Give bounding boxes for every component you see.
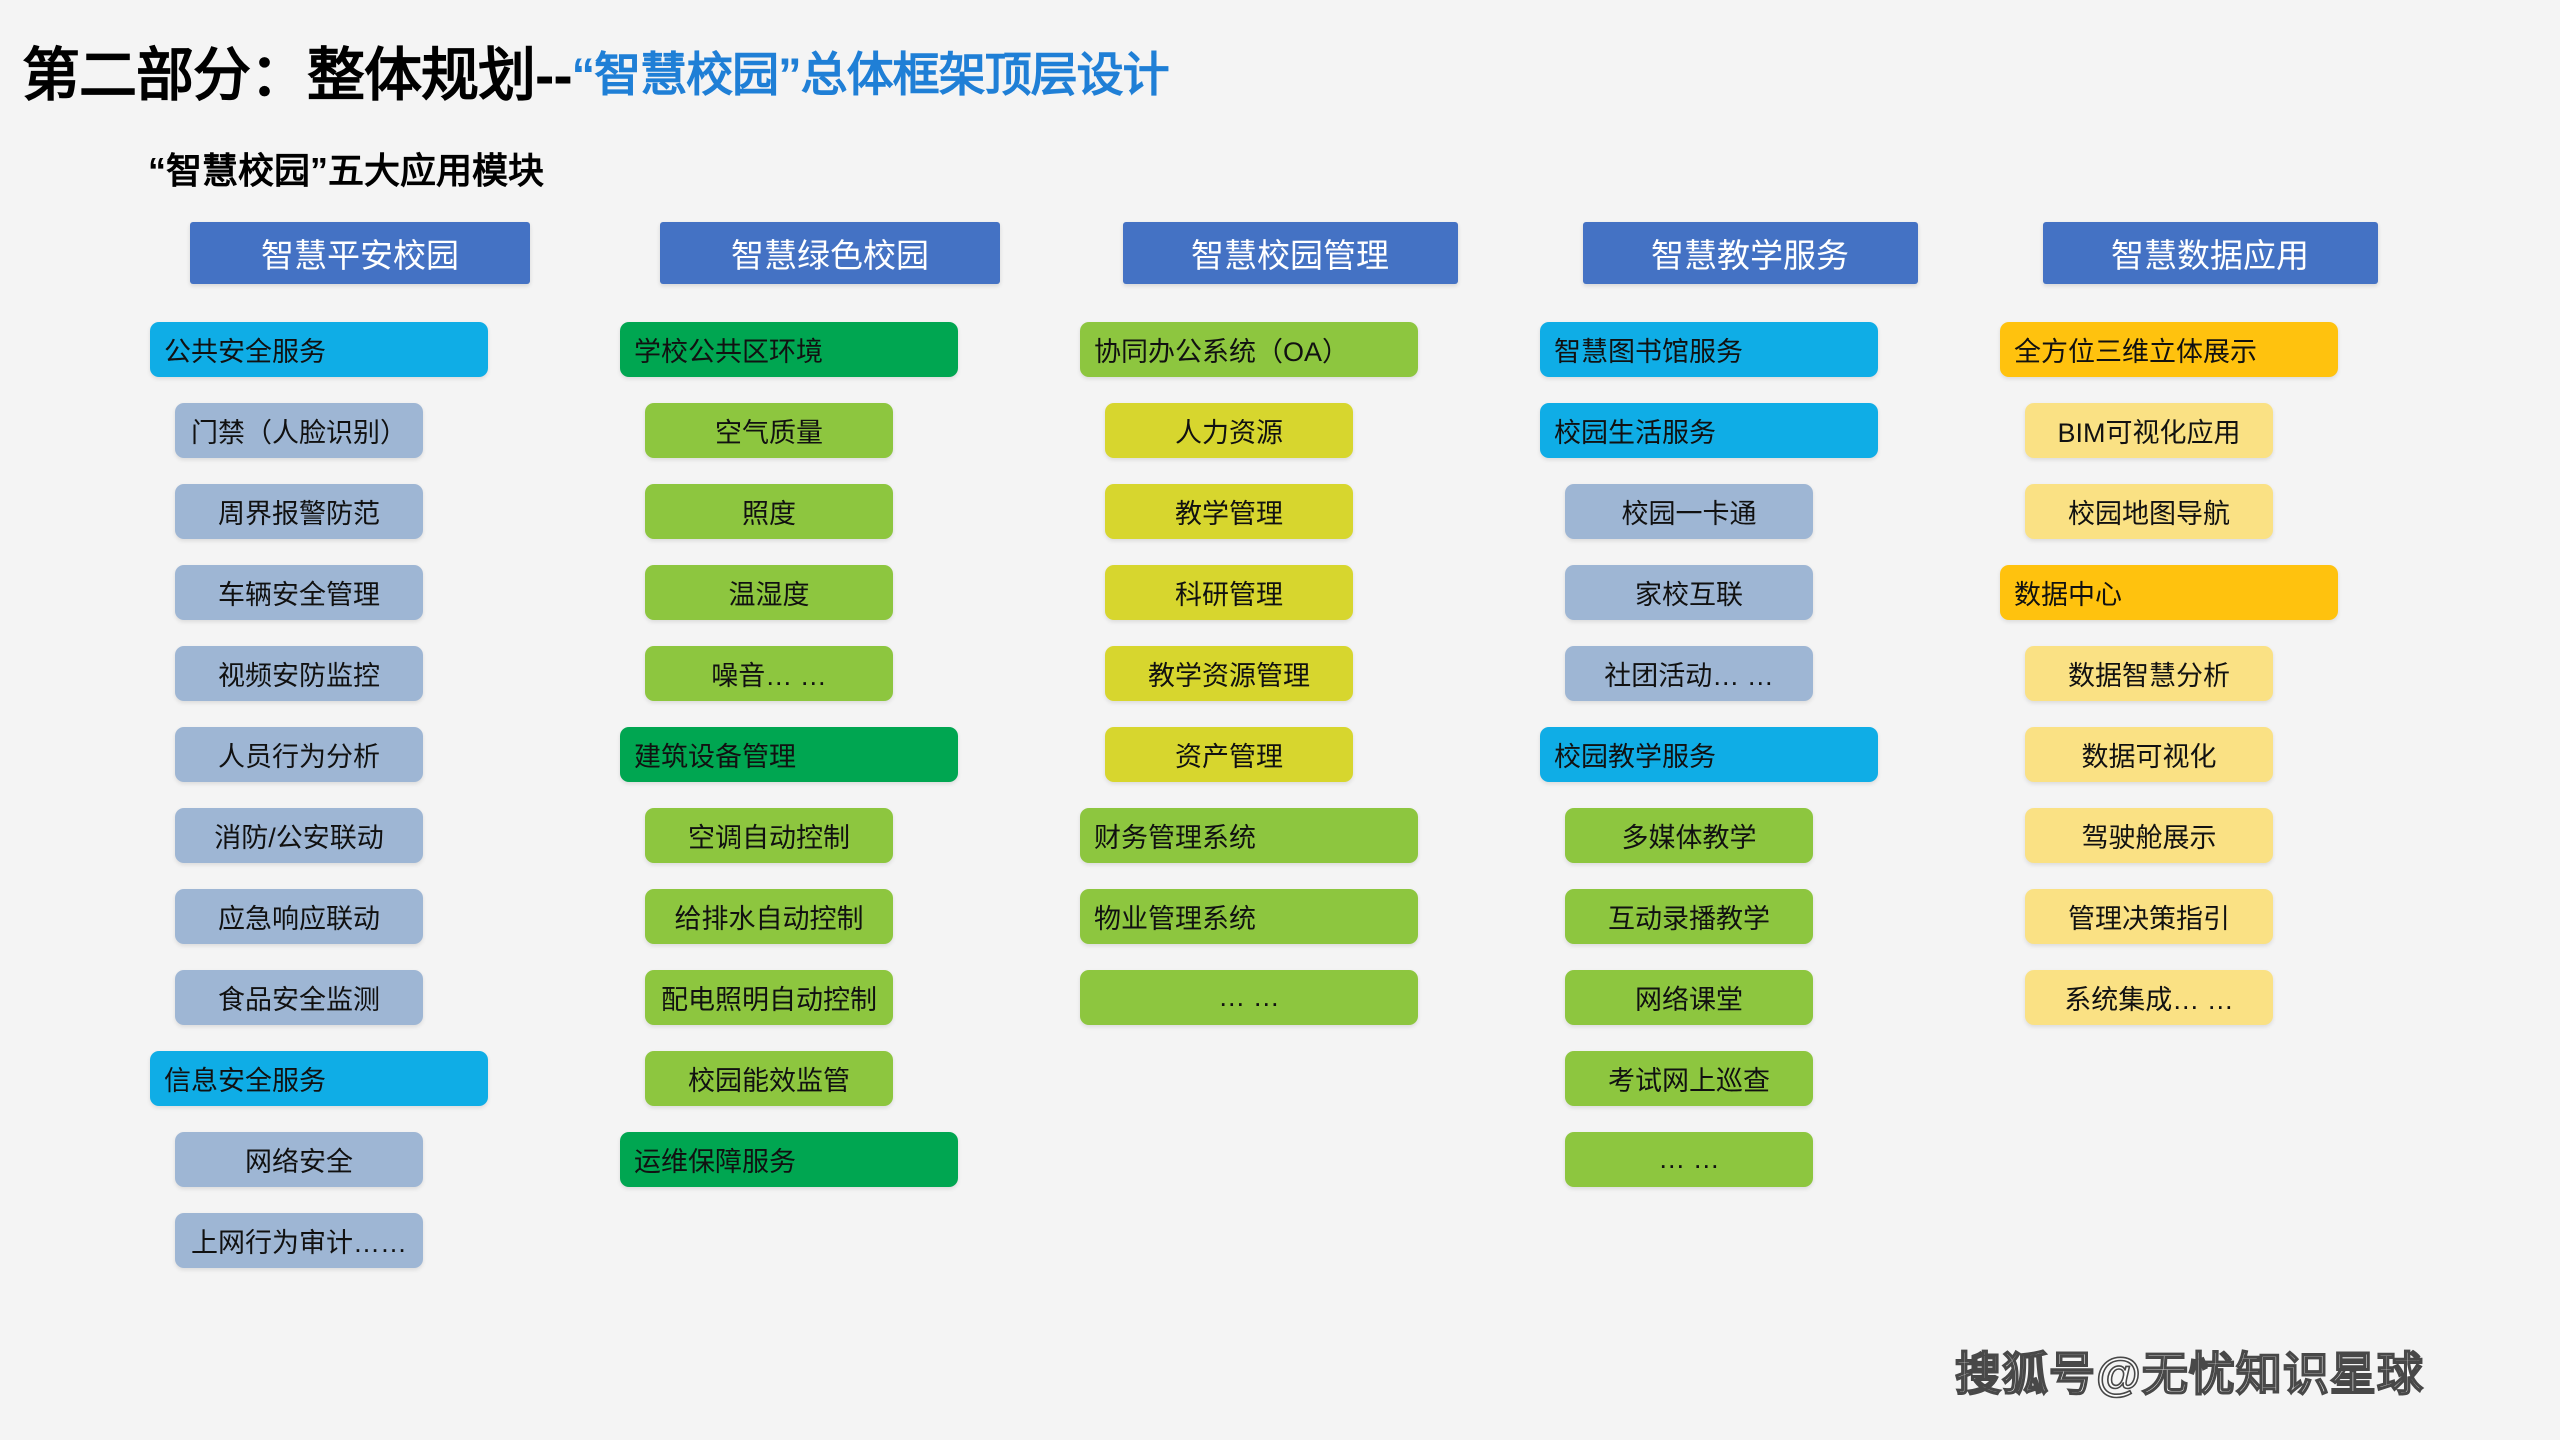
module-column-header[interactable]: 智慧绿色校园 bbox=[660, 222, 1000, 284]
module-item[interactable]: 校园地图导航 bbox=[2025, 484, 2273, 539]
module-column-header[interactable]: 智慧数据应用 bbox=[2043, 222, 2378, 284]
module-item[interactable]: … … bbox=[1565, 1132, 1813, 1187]
module-item[interactable]: 资产管理 bbox=[1105, 727, 1353, 782]
module-item[interactable]: … … bbox=[1080, 970, 1418, 1025]
module-item[interactable]: 网络安全 bbox=[175, 1132, 423, 1187]
module-item[interactable]: 校园一卡通 bbox=[1565, 484, 1813, 539]
page-title: 第二部分：整体规划--“智慧校园”总体框架顶层设计 bbox=[22, 28, 1169, 112]
module-item-list: 公共安全服务门禁（人脸识别）周界报警防范车辆安全管理视频安防监控人员行为分析消防… bbox=[150, 322, 570, 1268]
page-subtitle: “智慧校园”五大应用模块 bbox=[148, 142, 544, 194]
module-item[interactable]: 驾驶舱展示 bbox=[2025, 808, 2273, 863]
module-item-list: 协同办公系统（OA）人力资源教学管理科研管理教学资源管理资产管理财务管理系统物业… bbox=[1080, 322, 1500, 1025]
modules-board: 智慧平安校园公共安全服务门禁（人脸识别）周界报警防范车辆安全管理视频安防监控人员… bbox=[0, 222, 2560, 1322]
module-item[interactable]: 家校互联 bbox=[1565, 565, 1813, 620]
module-item-list: 全方位三维立体展示BIM可视化应用校园地图导航数据中心数据智慧分析数据可视化驾驶… bbox=[2000, 322, 2420, 1025]
module-item[interactable]: 网络课堂 bbox=[1565, 970, 1813, 1025]
module-column: 智慧校园管理协同办公系统（OA）人力资源教学管理科研管理教学资源管理资产管理财务… bbox=[1080, 222, 1500, 1051]
module-item[interactable]: 财务管理系统 bbox=[1080, 808, 1418, 863]
page-title-black: 第二部分：整体规划-- bbox=[22, 43, 572, 108]
page-title-accent: “智慧校园”总体框架顶层设计 bbox=[572, 48, 1169, 101]
module-item[interactable]: 数据可视化 bbox=[2025, 727, 2273, 782]
module-item-list: 智慧图书馆服务校园生活服务校园一卡通家校互联社团活动… …校园教学服务多媒体教学… bbox=[1540, 322, 1960, 1187]
module-item[interactable]: 车辆安全管理 bbox=[175, 565, 423, 620]
module-item[interactable]: BIM可视化应用 bbox=[2025, 403, 2273, 458]
module-item[interactable]: 校园教学服务 bbox=[1540, 727, 1878, 782]
module-item[interactable]: 数据中心 bbox=[2000, 565, 2338, 620]
module-item[interactable]: 全方位三维立体展示 bbox=[2000, 322, 2338, 377]
module-column: 智慧教学服务智慧图书馆服务校园生活服务校园一卡通家校互联社团活动… …校园教学服… bbox=[1540, 222, 1960, 1213]
module-item[interactable]: 教学资源管理 bbox=[1105, 646, 1353, 701]
module-column-header[interactable]: 智慧平安校园 bbox=[190, 222, 530, 284]
module-item[interactable]: 上网行为审计…… bbox=[175, 1213, 423, 1268]
module-column: 智慧数据应用全方位三维立体展示BIM可视化应用校园地图导航数据中心数据智慧分析数… bbox=[2000, 222, 2420, 1051]
module-item[interactable]: 视频安防监控 bbox=[175, 646, 423, 701]
module-item[interactable]: 人力资源 bbox=[1105, 403, 1353, 458]
module-item[interactable]: 考试网上巡查 bbox=[1565, 1051, 1813, 1106]
module-item[interactable]: 信息安全服务 bbox=[150, 1051, 488, 1106]
module-item[interactable]: 学校公共区环境 bbox=[620, 322, 958, 377]
module-item[interactable]: 周界报警防范 bbox=[175, 484, 423, 539]
module-item[interactable]: 协同办公系统（OA） bbox=[1080, 322, 1418, 377]
module-item[interactable]: 社团活动… … bbox=[1565, 646, 1813, 701]
module-item[interactable]: 智慧图书馆服务 bbox=[1540, 322, 1878, 377]
module-item[interactable]: 管理决策指引 bbox=[2025, 889, 2273, 944]
module-column-header[interactable]: 智慧教学服务 bbox=[1583, 222, 1918, 284]
module-item[interactable]: 数据智慧分析 bbox=[2025, 646, 2273, 701]
module-item[interactable]: 物业管理系统 bbox=[1080, 889, 1418, 944]
module-item[interactable]: 互动录播教学 bbox=[1565, 889, 1813, 944]
module-item[interactable]: 公共安全服务 bbox=[150, 322, 488, 377]
module-item[interactable]: 人员行为分析 bbox=[175, 727, 423, 782]
module-item[interactable]: 空气质量 bbox=[645, 403, 893, 458]
module-item[interactable]: 科研管理 bbox=[1105, 565, 1353, 620]
module-item[interactable]: 运维保障服务 bbox=[620, 1132, 958, 1187]
module-item[interactable]: 多媒体教学 bbox=[1565, 808, 1813, 863]
module-item[interactable]: 校园生活服务 bbox=[1540, 403, 1878, 458]
module-item[interactable]: 校园能效监管 bbox=[645, 1051, 893, 1106]
module-item[interactable]: 空调自动控制 bbox=[645, 808, 893, 863]
module-item[interactable]: 温湿度 bbox=[645, 565, 893, 620]
module-item-list: 学校公共区环境空气质量照度温湿度噪音… …建筑设备管理空调自动控制给排水自动控制… bbox=[620, 322, 1040, 1187]
watermark: 搜狐号@无忧知识星球 bbox=[1955, 1338, 2424, 1404]
module-column: 智慧平安校园公共安全服务门禁（人脸识别）周界报警防范车辆安全管理视频安防监控人员… bbox=[150, 222, 570, 1294]
module-item[interactable]: 配电照明自动控制 bbox=[645, 970, 893, 1025]
module-item[interactable]: 应急响应联动 bbox=[175, 889, 423, 944]
module-item[interactable]: 给排水自动控制 bbox=[645, 889, 893, 944]
module-item[interactable]: 门禁（人脸识别） bbox=[175, 403, 423, 458]
module-column: 智慧绿色校园学校公共区环境空气质量照度温湿度噪音… …建筑设备管理空调自动控制给… bbox=[620, 222, 1040, 1213]
module-item[interactable]: 消防/公安联动 bbox=[175, 808, 423, 863]
module-item[interactable]: 噪音… … bbox=[645, 646, 893, 701]
module-item[interactable]: 系统集成… … bbox=[2025, 970, 2273, 1025]
module-column-header[interactable]: 智慧校园管理 bbox=[1123, 222, 1458, 284]
module-item[interactable]: 教学管理 bbox=[1105, 484, 1353, 539]
module-item[interactable]: 照度 bbox=[645, 484, 893, 539]
module-item[interactable]: 建筑设备管理 bbox=[620, 727, 958, 782]
module-item[interactable]: 食品安全监测 bbox=[175, 970, 423, 1025]
